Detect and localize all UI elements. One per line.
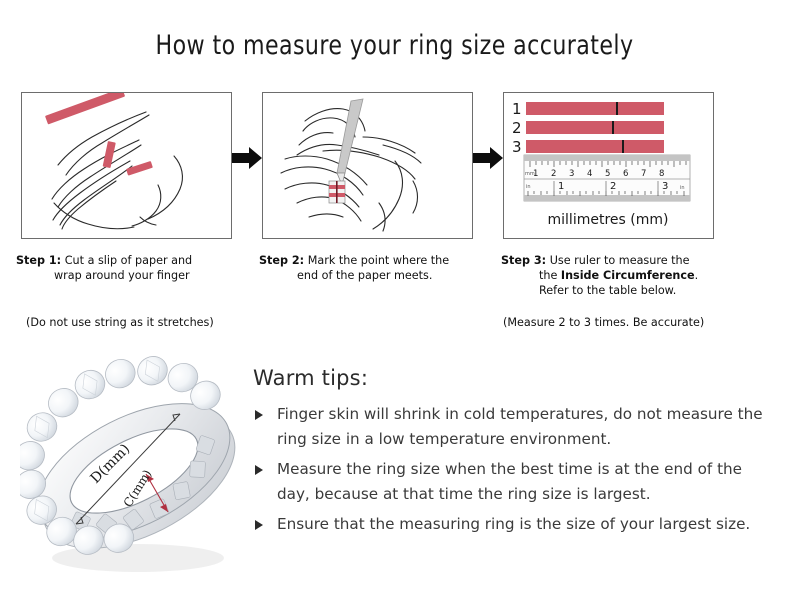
page-title: How to measure your ring size accurately [71,30,718,61]
step-3-label: Step 3: [501,254,546,267]
warm-tip-text: Measure the ring size when the best time… [277,460,742,503]
svg-text:7: 7 [641,93,646,96]
warm-tip-item: Finger skin will shrink in cold temperat… [253,402,773,452]
warm-tip-item: Measure the ring size when the best time… [253,457,773,507]
arrow-step1-to-step2 [232,146,262,170]
svg-text:2: 2 [551,169,556,179]
step-2-line1: Mark the point where the [308,254,449,267]
eternity-ring-icon: D(mm) C(mm) [20,352,248,590]
svg-text:4: 4 [587,169,592,179]
svg-text:2: 2 [610,181,616,192]
loose-paper-strip-icon [45,93,125,124]
strip-label-1: 1 [512,100,522,118]
step-1-label: Step 1: [16,254,61,267]
svg-text:in: in [680,185,685,191]
warm-tip-item: Ensure that the measuring ring is the si… [253,512,773,537]
bullet-triangle-icon [255,465,263,475]
svg-text:8: 8 [659,93,664,96]
step-2-caption: Step 2: Mark the point where the end of … [259,253,491,283]
svg-text:3: 3 [569,169,574,179]
wrapped-paper-strip-icon [103,141,153,176]
step-1-line2: wrap around your finger [16,268,251,283]
step-1-illustration-panel [21,92,232,239]
step-3-line1: Use ruler to measure the [550,254,690,267]
hand-marking-paper-icon [263,93,472,238]
marked-paper-strip-icon [329,181,345,203]
step-1-caption: Step 1: Cut a slip of paper and wrap aro… [16,253,251,283]
strip-label-2: 2 [512,119,522,137]
svg-text:1: 1 [558,181,564,192]
svg-text:6: 6 [623,169,628,179]
step-3-caption: Step 3: Use ruler to measure the the Ins… [501,253,751,298]
warm-tip-text: Finger skin will shrink in cold temperat… [277,405,763,448]
svg-text:in: in [526,184,531,190]
warm-tips-heading: Warm tips: [253,366,773,390]
svg-text:5: 5 [605,93,610,96]
ruler-caption: millimetres (mm) [548,212,669,228]
step-3-note: (Measure 2 to 3 times. Be accurate) [503,316,704,329]
step-3-line3: Refer to the table below. [501,283,751,298]
inside-circumference-emphasis: Inside Circumference [561,269,695,282]
bullet-triangle-icon [255,410,263,420]
ring-diagram: D(mm) C(mm) [20,352,248,590]
warm-tip-text: Ensure that the measuring ring is the si… [277,515,750,533]
ring-size-guide-page: How to measure your ring size accurately [0,0,789,606]
svg-text:2: 2 [551,93,556,96]
step-3-line2: the Inside Circumference. [501,268,751,283]
step-2-label: Step 2: [259,254,304,267]
svg-text:1: 1 [533,93,538,96]
step-3-illustration-panel: 1 2 3 1234 5678 [503,92,714,239]
arrow-step2-to-step3 [473,146,503,170]
svg-text:3: 3 [569,93,574,96]
ruler-and-strips-icon: 1 2 3 1234 5678 [504,93,713,238]
warm-tips-section: Warm tips: Finger skin will shrink in co… [253,366,773,542]
step-2-illustration-panel [262,92,473,239]
step-1-note: (Do not use string as it stretches) [26,316,214,329]
ruler-cm-numbers: 1234 5678 [533,93,664,96]
svg-text:5: 5 [605,169,610,179]
svg-text:8: 8 [659,169,664,179]
svg-text:7: 7 [641,169,646,179]
svg-text:3: 3 [662,181,668,192]
step-1-line1: Cut a slip of paper and [65,254,192,267]
hand-with-paper-strip-icon [22,93,231,238]
svg-text:6: 6 [623,93,628,96]
pen-icon [337,99,363,185]
strip-label-3: 3 [512,138,522,156]
svg-text:4: 4 [587,93,592,96]
step-2-line2: end of the paper meets. [259,268,491,283]
svg-text:mm: mm [525,171,535,177]
bullet-triangle-icon [255,520,263,530]
